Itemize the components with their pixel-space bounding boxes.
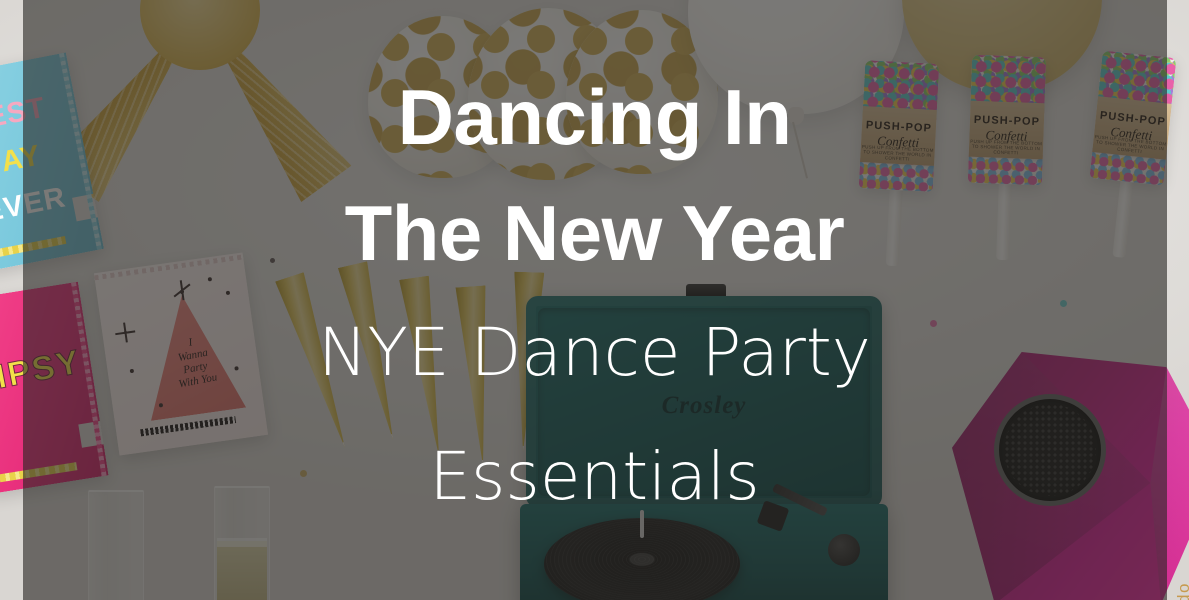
koozie-word-ever: EVER bbox=[0, 181, 69, 229]
push-pop-confetti-popper: PUSH-POP Confetti PUSH UP FROM THE BOTTO… bbox=[859, 60, 940, 192]
i-wanna-party-with-you-card: I Wanna Party With You bbox=[94, 252, 268, 455]
speaker-grille bbox=[994, 394, 1106, 506]
koozie-word-best: BEST bbox=[0, 92, 49, 140]
product-photo: PUSH-POP Confetti PUSH UP FROM THE BOTTO… bbox=[0, 0, 1189, 600]
crosley-brand-logo: Crosley bbox=[526, 392, 882, 420]
crosley-suitcase-turntable: Crosley bbox=[516, 282, 892, 600]
nye-promo-banner: PUSH-POP Confetti PUSH UP FROM THE BOTTO… bbox=[0, 0, 1189, 600]
popper-fineprint: PUSH UP FROM THE BOTTOM TO SHOWER THE WO… bbox=[968, 139, 1046, 157]
popper-fineprint: PUSH UP FROM THE BOTTOM TO SHOWER THE WO… bbox=[859, 144, 938, 163]
pom-burst-icon bbox=[175, 284, 190, 299]
sparkle-icon bbox=[118, 325, 134, 341]
bando-bluetooth-speaker: ban.do bbox=[952, 352, 1189, 600]
koozie-word-day: DAY bbox=[0, 139, 44, 183]
push-pop-confetti-popper: PUSH-POP Confetti PUSH UP FROM THE BOTTO… bbox=[968, 55, 1046, 186]
koozie-word-tipsy: TIPSY bbox=[0, 343, 84, 402]
bando-brand-logo: ban.do bbox=[1174, 582, 1189, 600]
champagne-flute bbox=[88, 490, 144, 600]
push-pop-confetti-popper: PUSH-POP Confetti PUSH UP FROM THE BOTTO… bbox=[1090, 50, 1177, 185]
turntable-knob bbox=[828, 534, 860, 566]
champagne-flute bbox=[214, 486, 270, 600]
gold-star-lantern bbox=[40, 0, 360, 170]
